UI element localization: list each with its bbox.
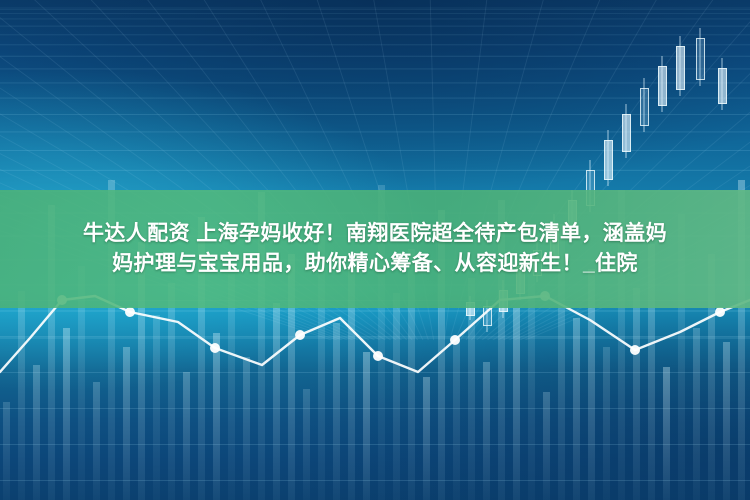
headline-line-1: 牛达人配资 上海孕妈收好！南翔医院超全待产包清单，涵盖妈 xyxy=(83,219,667,249)
candle-body xyxy=(718,68,727,104)
candlestick xyxy=(658,56,667,112)
candle-body xyxy=(604,140,613,180)
headline-line-2: 妈护理与宝宝用品，助你精心筹备、从容迎新生！_住院 xyxy=(112,249,638,279)
candlestick xyxy=(604,130,613,186)
candle-body xyxy=(658,66,667,106)
candle-body xyxy=(640,88,649,126)
candle-body xyxy=(483,306,492,326)
candlestick xyxy=(622,104,631,158)
candlestick xyxy=(696,28,705,86)
candlestick xyxy=(718,58,727,110)
candle-body xyxy=(622,114,631,152)
candlestick xyxy=(676,36,685,96)
candle-body xyxy=(696,38,705,80)
banner-image: 牛达人配资 上海孕妈收好！南翔医院超全待产包清单，涵盖妈 妈护理与宝宝用品，助你… xyxy=(0,0,750,500)
headline-banner: 牛达人配资 上海孕妈收好！南翔医院超全待产包清单，涵盖妈 妈护理与宝宝用品，助你… xyxy=(0,190,750,308)
candle-body xyxy=(676,46,685,90)
candlestick xyxy=(640,78,649,132)
